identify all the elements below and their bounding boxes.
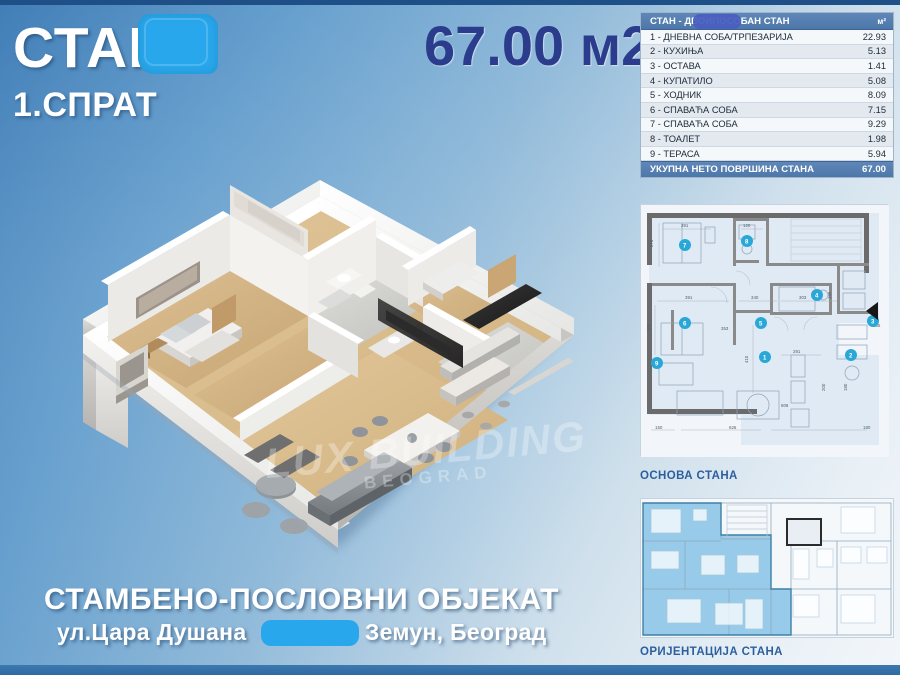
orientation-plan [640,498,894,638]
dim-text: 808 [781,403,789,408]
table-row: 8 - ТОАЛЕТ 1.98 [641,132,893,147]
dim-text: 353 [721,326,729,331]
dim-text: 303 [799,295,807,300]
redaction-blob-address [261,620,359,646]
bottom-edge-strip [0,665,900,675]
room-area: 22.93 [863,32,886,42]
room-area: 5.13 [868,46,886,56]
table-row: 3 - ОСТАВА 1.41 [641,59,893,74]
table-header-unit: м² [877,17,886,26]
room-area: 9.29 [868,119,886,129]
dim-text: 200 [646,323,651,331]
room-name: 5 - ХОДНИК [650,90,701,100]
dim-text: 180 [863,425,871,430]
dim-text: 340 [751,295,759,300]
address-prefix: ул.Цара Душана [57,619,246,645]
room-name: 8 - ТОАЛЕТ [650,134,700,144]
dim-text: 626 [729,425,737,430]
table-row: 6 - СПАВАЋА СОБА 7.15 [641,103,893,118]
table-row: 9 - ТЕРАСА 5.94 [641,147,893,162]
address-suffix: Земун, Београд [365,619,547,645]
apartment-3d-render: LUX BUILDING BEOGRAD [8,130,620,570]
building-type-label: СТАМБЕНО-ПОСЛОВНИ ОБЈЕКАТ [44,583,559,617]
floor-plan-drawing: 391 273 120 391 200 340 303 353 410 291 … [640,204,888,456]
room-name: 4 - КУПАТИЛО [650,76,713,86]
room-area: 8.09 [868,90,886,100]
redaction-blob-table [693,14,741,29]
room-name: 7 - СПАВАЋА СОБА [650,119,738,129]
room-name: 9 - ТЕРАСА [650,149,700,159]
room-name: 1 - ДНЕВНА СОБА/ТРПЕЗАРИЈА [650,32,793,42]
total-value: 67.00 [862,164,886,175]
redaction-blob-title [138,14,218,74]
dim-text: 273 [649,239,654,247]
room-area: 7.15 [868,105,886,115]
dim-text: 180 [843,383,848,391]
room-name: 2 - КУХИЊА [650,46,703,56]
dim-text: 180 [827,291,832,299]
table-row: 2 - КУХИЊА 5.13 [641,45,893,60]
table-header-row: СТАН - ДВОИПОСОБАН СТАН м² [641,13,893,30]
dim-text: 410 [744,355,749,363]
room-area: 1.41 [868,61,886,71]
table-row: 7 - СПАВАЋА СОБА 9.29 [641,118,893,133]
top-edge-strip [0,0,900,5]
apartment-datasheet: СТАН 1.СПРАТ 67.00 м2 [0,0,900,675]
table-row: 1 - ДНЕВНА СОБА/ТРПЕЗАРИЈА 22.93 [641,30,893,45]
dim-text: 391 [685,295,693,300]
table-total-row: УКУПНА НЕТО ПОВРШИНА СТАНА 67.00 [641,161,893,177]
table-row: 5 - ХОДНИК 8.09 [641,88,893,103]
area-table: СТАН - ДВОИПОСОБАН СТАН м² 1 - ДНЕВНА СО… [640,12,894,178]
table-row: 4 - КУПАТИЛО 5.08 [641,74,893,89]
total-area-headline: 67.00 м2 [424,18,652,74]
dim-text: 150 [655,425,663,430]
room-area: 5.08 [868,76,886,86]
floor-label: 1.СПРАТ [13,88,157,122]
floor-plan-caption: ОСНОВА СТАНА [640,470,738,482]
room-area: 1.98 [868,134,886,144]
room-name: 3 - ОСТАВА [650,61,701,71]
orientation-plan-caption: ОРИЈЕНТАЦИЈА СТАНА [640,646,783,658]
north-arrow-icon [866,302,878,320]
dim-text: 391 [681,223,689,228]
dim-text: 200 [821,383,826,391]
total-label: УКУПНА НЕТО ПОВРШИНА СТАНА [650,164,814,175]
room-area: 5.94 [868,149,886,159]
dim-text: 120 [743,223,751,228]
dim-text: 291 [793,349,801,354]
room-name: 6 - СПАВАЋА СОБА [650,105,738,115]
